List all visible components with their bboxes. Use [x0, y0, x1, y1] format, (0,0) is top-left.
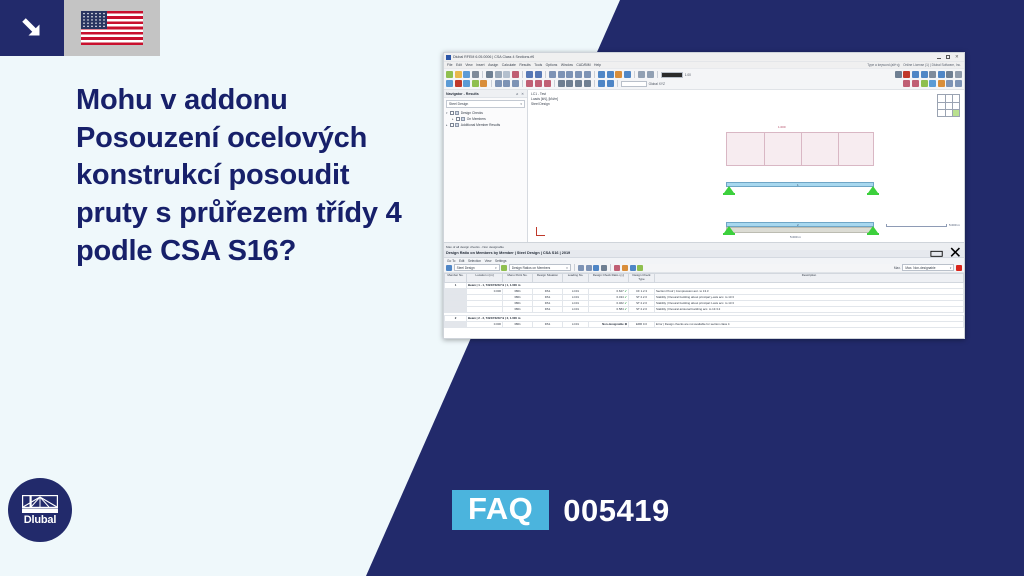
navigator-title: Navigator - Results: [446, 92, 479, 96]
toolbar-icon-wireframe[interactable]: [503, 71, 510, 78]
dimension-tick-left: [886, 224, 887, 227]
toolbar-icon-undo[interactable]: [526, 71, 533, 78]
toolbar-icon-rotate[interactable]: [946, 71, 953, 78]
results-menu-edit[interactable]: Edit: [459, 259, 465, 263]
results-icon-category: [501, 265, 507, 271]
cell-menu-point: 3801: [503, 321, 533, 327]
menu-item-insert[interactable]: Insert: [476, 63, 484, 67]
slide-root: Mohu v addonu Posouzení ocelových konstr…: [0, 0, 1024, 576]
support-base-left-1: [723, 193, 735, 195]
global-coord-box[interactable]: [621, 81, 647, 87]
cell-check-code: ERR 0.0: [629, 321, 655, 327]
arrow-down-right-icon: [0, 0, 64, 56]
toolbar-row-2[interactable]: Global XYZ: [446, 79, 962, 88]
results-panel-title: Design Ratio on Members by Member | Stee…: [446, 251, 570, 255]
menu-item-results[interactable]: Results: [519, 63, 530, 67]
tree-item-additional-member-results[interactable]: ▸ Additional Member Results: [446, 122, 525, 128]
check-ok-icon: ✔: [624, 289, 627, 293]
toolbar-icon-new[interactable]: [446, 71, 453, 78]
faq-badge: FAQ: [452, 490, 549, 530]
menu-item-view[interactable]: View: [465, 63, 472, 67]
toolbar-icon-print[interactable]: [472, 71, 479, 78]
results-panel-header: Design Ratio on Members by Member | Stee…: [444, 250, 964, 258]
minimize-icon[interactable]: [937, 56, 941, 59]
folder-icon: [455, 123, 459, 126]
row-number: [445, 321, 467, 327]
dlubal-logo[interactable]: Dlubal: [8, 478, 72, 542]
model-viewport[interactable]: LC1 - Test Loads [kN], [kN/m] Steel Desi…: [528, 90, 964, 242]
dimension-line: [886, 226, 946, 227]
toolbar-icon-shading[interactable]: [495, 71, 502, 78]
toolbar-icon-cut-2[interactable]: [647, 71, 654, 78]
menu-item-assign[interactable]: Assign: [488, 63, 498, 67]
results-icon-colors[interactable]: [622, 265, 628, 271]
navigator-tree[interactable]: ▾ Design Checks ▸ On Members ▸: [444, 109, 527, 242]
toolbar-icon-save[interactable]: [463, 71, 470, 78]
toolbar-row-1[interactable]: 1.00: [446, 70, 962, 79]
results-table[interactable]: Member No. Location x [m] Menu Point No.…: [444, 273, 964, 328]
top-left-badge-group: [0, 0, 160, 56]
license-status: Online License (1) | Dlubal Software, In…: [903, 63, 961, 67]
support-right-1: [868, 186, 878, 193]
toolbar-icon-result-5[interactable]: [938, 80, 945, 87]
tree-expander-icon[interactable]: ▸: [446, 123, 449, 127]
col-loading-no: Loading No.: [563, 273, 589, 282]
toolbar-icon-calc-3[interactable]: [615, 71, 622, 78]
viewport-line-3: Steel Design: [531, 102, 558, 107]
toolbar-label-scale: 1.00: [685, 73, 691, 77]
toolbar-icon-marker[interactable]: [903, 71, 910, 78]
dimension-label: 5.000 m: [949, 223, 960, 227]
member-load-diagram: [726, 132, 874, 166]
results-icon-chart[interactable]: [614, 265, 620, 271]
window-titlebar: Dlubal RFEM 6.05.0006 | CSA Class 4 Sect…: [444, 53, 964, 62]
results-panel[interactable]: Max of all design checks - Non designabl…: [444, 242, 964, 339]
viewport-info-text: LC1 - Test Loads [kN], [kN/m] Steel Desi…: [531, 92, 558, 107]
toolbar-icon-node[interactable]: [446, 80, 453, 87]
chevron-down-icon[interactable]: ▾: [495, 266, 497, 270]
tree-expander-icon[interactable]: ▾: [446, 111, 449, 115]
toolbar-icon-result-6[interactable]: [946, 80, 953, 87]
results-menu-settings[interactable]: Settings: [495, 259, 507, 263]
toolbar-icon-mirror[interactable]: [566, 80, 573, 87]
language-flag-button[interactable]: [64, 0, 160, 56]
toolbar-icon-result-1[interactable]: [903, 80, 910, 87]
color-scale-box[interactable]: [661, 72, 683, 78]
toolbar-icon-result-7[interactable]: [955, 80, 962, 87]
tree-item-label: Additional Member Results: [461, 123, 500, 127]
cell-loading-no: LC01: [563, 321, 589, 327]
menu-bar[interactable]: File Edit View Insert Assign Calculate R…: [444, 62, 964, 69]
dlubal-truss-icon: [22, 495, 58, 514]
toolbar-icon-table-3[interactable]: [566, 71, 573, 78]
toolbar-icon-cut-1[interactable]: [638, 71, 645, 78]
navigator-module-selector[interactable]: Steel Design ▾: [446, 100, 525, 108]
cell-location: 0.000: [467, 321, 503, 327]
support-left-1: [724, 186, 734, 193]
results-menu-view[interactable]: View: [485, 259, 492, 263]
rfem-application-window[interactable]: Dlubal RFEM 6.05.0006 | CSA Class 4 Sect…: [443, 52, 965, 339]
main-body: Navigator - Results ⌀ ✕ Steel Design ▾ ▾…: [444, 90, 964, 242]
us-flag-icon: [81, 11, 143, 45]
tree-checkbox[interactable]: [456, 117, 460, 121]
support-base-right-1: [867, 193, 879, 195]
toolbar-label-global: Global XYZ: [649, 82, 665, 86]
menu-item-edit[interactable]: Edit: [456, 63, 462, 67]
results-icon-delete[interactable]: [956, 265, 962, 271]
menu-item-help[interactable]: Help: [594, 63, 601, 67]
tree-expander-icon[interactable]: ▸: [452, 117, 455, 121]
toolbar-icon-grid[interactable]: [921, 71, 928, 78]
col-location: Location x [m]: [467, 273, 503, 282]
tree-checkbox[interactable]: [450, 123, 454, 127]
col-menu-point: Menu Point No.: [503, 273, 533, 282]
menu-item-tools[interactable]: Tools: [534, 63, 542, 67]
check-ok-icon: ✔: [624, 301, 627, 305]
menu-item-window[interactable]: Window: [561, 63, 573, 67]
col-member-no: Member No.: [445, 273, 467, 282]
load-value-label: 1.000: [778, 125, 786, 129]
toolbar-icon-result-2[interactable]: [912, 80, 919, 87]
toolbar-icon-open[interactable]: [455, 71, 462, 78]
col-design-check-type: Design Check Type: [629, 273, 655, 282]
toolbar-icon-dimension[interactable]: [607, 80, 614, 87]
toolbar-icon-scale-obj[interactable]: [584, 80, 591, 87]
tree-item-label: Design Checks: [461, 111, 483, 115]
toolbar-icon-member[interactable]: [463, 80, 470, 87]
toolbar-icon-more[interactable]: [955, 71, 962, 78]
close-icon[interactable]: ✕: [955, 55, 959, 59]
chevron-down-icon[interactable]: ▾: [566, 266, 568, 270]
check-ok-icon: ✔: [624, 295, 627, 299]
tree-item-label: On Members: [467, 117, 486, 121]
navigator-header: Navigator - Results ⌀ ✕: [444, 90, 527, 98]
results-icon-print[interactable]: [601, 265, 607, 271]
results-panel-tabstrip[interactable]: Max of all design checks - Non designabl…: [444, 243, 964, 250]
support-base-left-2: [723, 233, 735, 235]
toolbar-icon-solid[interactable]: [480, 80, 487, 87]
results-icon-refresh[interactable]: [637, 265, 643, 271]
results-module-combo[interactable]: Steel Design ▾: [454, 264, 500, 271]
toolbar-icon-table-1[interactable]: [549, 71, 556, 78]
toolbar-icon-load-case[interactable]: [895, 71, 902, 78]
results-category-combo[interactable]: Design Ratios on Members ▾: [509, 264, 571, 271]
support-left-2: [724, 226, 734, 233]
navigator-panel-controls[interactable]: ⌀ ✕: [516, 92, 525, 96]
toolbar-icon-snap[interactable]: [912, 71, 919, 78]
dimension-tick-right: [946, 224, 947, 227]
search-input[interactable]: Type a keyword (alt+q): [867, 63, 899, 67]
toolbar-icon-table-5[interactable]: [584, 71, 591, 78]
col-design-situation: Design Situation: [533, 273, 563, 282]
results-menu-selection[interactable]: Selection: [468, 259, 481, 263]
toolbar-icon-calc-2[interactable]: [607, 71, 614, 78]
check-ok-icon: ✔: [624, 307, 627, 311]
toolbar-icon-copy[interactable]: [558, 80, 565, 87]
member-1-beam[interactable]: [726, 182, 874, 187]
results-icon-filter[interactable]: [578, 265, 584, 271]
toolbar-icon-calc-4[interactable]: [624, 71, 631, 78]
toolbar-icon-load-3[interactable]: [544, 80, 551, 87]
window-title: Dlubal RFEM 6.05.0006 | CSA Class 4 Sect…: [453, 55, 534, 59]
toolbar-icon-colors[interactable]: [512, 71, 519, 78]
table-row[interactable]: 0.000 3801 DS1 LC01 Non-designable ⊗ ERR…: [445, 321, 964, 327]
results-icon-export[interactable]: [593, 265, 599, 271]
results-table-wrap[interactable]: Member No. Location x [m] Menu Point No.…: [444, 273, 964, 340]
faq-footer: FAQ 005419: [452, 490, 670, 530]
member-2-label: 2: [797, 223, 799, 227]
logo-text: Dlubal: [24, 515, 56, 526]
rfem-app-icon: [446, 55, 451, 60]
toolbar-icon-zoom-fit[interactable]: [938, 71, 945, 78]
results-menu-goto[interactable]: Go To: [447, 259, 455, 263]
page-title: Mohu v addonu Posouzení ocelových konstr…: [76, 82, 426, 270]
toolbar-icon-support-2[interactable]: [503, 80, 510, 87]
chevron-down-icon[interactable]: ▾: [950, 266, 952, 270]
results-max-combo[interactable]: Max. Non-designable ▾: [902, 264, 954, 271]
results-icon-sort[interactable]: [586, 265, 592, 271]
results-category-value: Design Ratios on Members: [512, 266, 550, 270]
toolbar-icon-line[interactable]: [455, 80, 462, 87]
folder-icon: [455, 111, 459, 114]
menu-item-calculate[interactable]: Calculate: [502, 63, 516, 67]
toolbar-area[interactable]: 1.00: [444, 69, 964, 90]
tree-checkbox[interactable]: [450, 111, 454, 115]
chevron-down-icon[interactable]: ▾: [520, 102, 522, 106]
results-panel-toolbar[interactable]: Steel Design ▾ Design Ratios on Members …: [444, 264, 964, 273]
menu-item-cadbim[interactable]: CAD/BIM: [576, 63, 590, 67]
toolbar-icon-surface[interactable]: [472, 80, 479, 87]
toolbar-icon-axes[interactable]: [929, 71, 936, 78]
toolbar-icon-calc-1[interactable]: [598, 71, 605, 78]
cell-description: Error | Design checks are not available …: [655, 321, 964, 327]
col-description: Description: [655, 273, 964, 282]
view-cube-icon[interactable]: [937, 94, 960, 117]
menu-item-options[interactable]: Options: [546, 63, 558, 67]
table-header-row: Member No. Location x [m] Menu Point No.…: [445, 273, 964, 282]
support-base-right-2: [867, 233, 879, 235]
results-module-value: Steel Design: [457, 266, 475, 270]
toolbar-icon-redo[interactable]: [535, 71, 542, 78]
menu-item-file[interactable]: File: [447, 63, 452, 67]
cell-design-ratio: Non-designable ⊗: [589, 321, 629, 327]
error-icon: ⊗: [625, 322, 627, 326]
toolbar-icon-render[interactable]: [486, 71, 493, 78]
folder-icon: [461, 117, 465, 120]
results-panel-tab[interactable]: Max of all design checks - Non designabl…: [446, 245, 504, 249]
results-icon-module: [446, 265, 452, 271]
toolbar-icon-support-1[interactable]: [495, 80, 502, 87]
member-1-label: 1: [797, 183, 799, 187]
toolbar-icon-support-3[interactable]: [512, 80, 519, 87]
results-max-value: Max. Non-designable: [905, 266, 935, 270]
toolbar-icon-measure[interactable]: [598, 80, 605, 87]
window-controls[interactable]: ✕: [937, 55, 962, 59]
toolbar-icon-rotate-obj[interactable]: [575, 80, 582, 87]
col-design-ratio: Design Check Ratio η [-]: [589, 273, 629, 282]
toolbar-icon-result-4[interactable]: [929, 80, 936, 87]
results-label-max: Max.: [894, 266, 901, 270]
navigator-panel[interactable]: Navigator - Results ⌀ ✕ Steel Design ▾ ▾…: [444, 90, 528, 242]
member-2-shadow: [726, 227, 874, 233]
toolbar-icon-load-2[interactable]: [535, 80, 542, 87]
cell-design-situation: DS1: [533, 321, 563, 327]
origin-axes-icon: [536, 227, 545, 236]
toolbar-icon-load-1[interactable]: [526, 80, 533, 87]
toolbar-icon-result-3[interactable]: [921, 80, 928, 87]
toolbar-icon-table-2[interactable]: [558, 71, 565, 78]
support-right-2: [868, 226, 878, 233]
toolbar-icon-table-4[interactable]: [575, 71, 582, 78]
results-icon-search[interactable]: [630, 265, 636, 271]
span-label: 5.000 m: [790, 235, 801, 239]
maximize-icon[interactable]: [946, 55, 950, 59]
faq-number: 005419: [563, 495, 669, 526]
navigator-module-value: Steel Design: [449, 102, 468, 106]
